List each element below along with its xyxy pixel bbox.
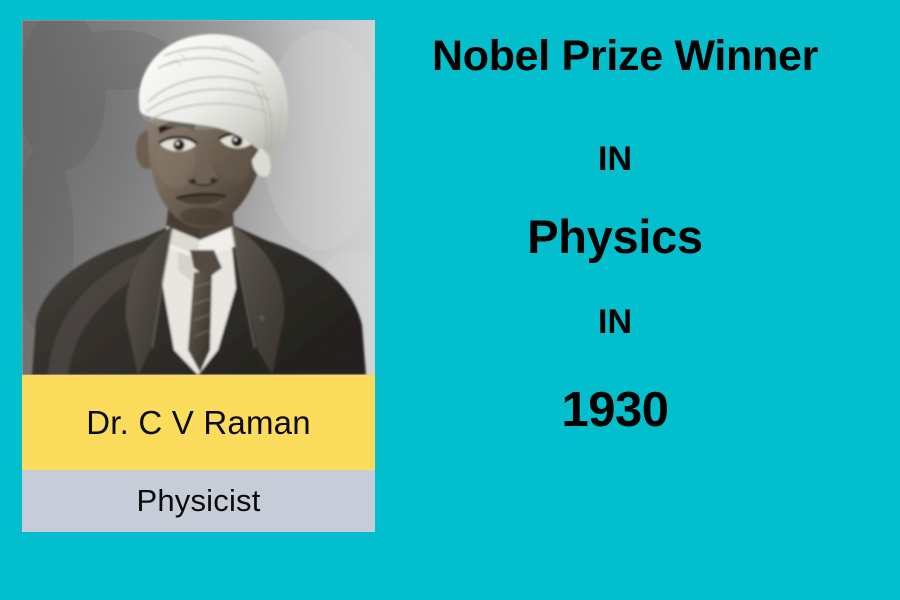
person-role-label: Physicist [136, 483, 260, 519]
award-connector-field: IN [395, 140, 835, 179]
award-headline: Nobel Prize Winner [395, 32, 855, 81]
person-name-bar: Dr. C V Raman [22, 375, 375, 470]
award-text-column: Nobel Prize Winner IN Physics IN 1930 [395, 0, 900, 600]
person-name-label: Dr. C V Raman [86, 404, 311, 442]
award-year: 1930 [395, 382, 835, 438]
award-connector-year: IN [395, 303, 835, 342]
portrait-photo-image [22, 20, 375, 375]
portrait-photo [22, 20, 375, 375]
portrait-card: Dr. C V Raman Physicist [22, 20, 375, 532]
person-role-bar: Physicist [22, 470, 375, 532]
nobel-prize-winner-poster: Dr. C V Raman Physicist Nobel Prize Winn… [0, 0, 900, 600]
award-field: Physics [395, 209, 835, 264]
